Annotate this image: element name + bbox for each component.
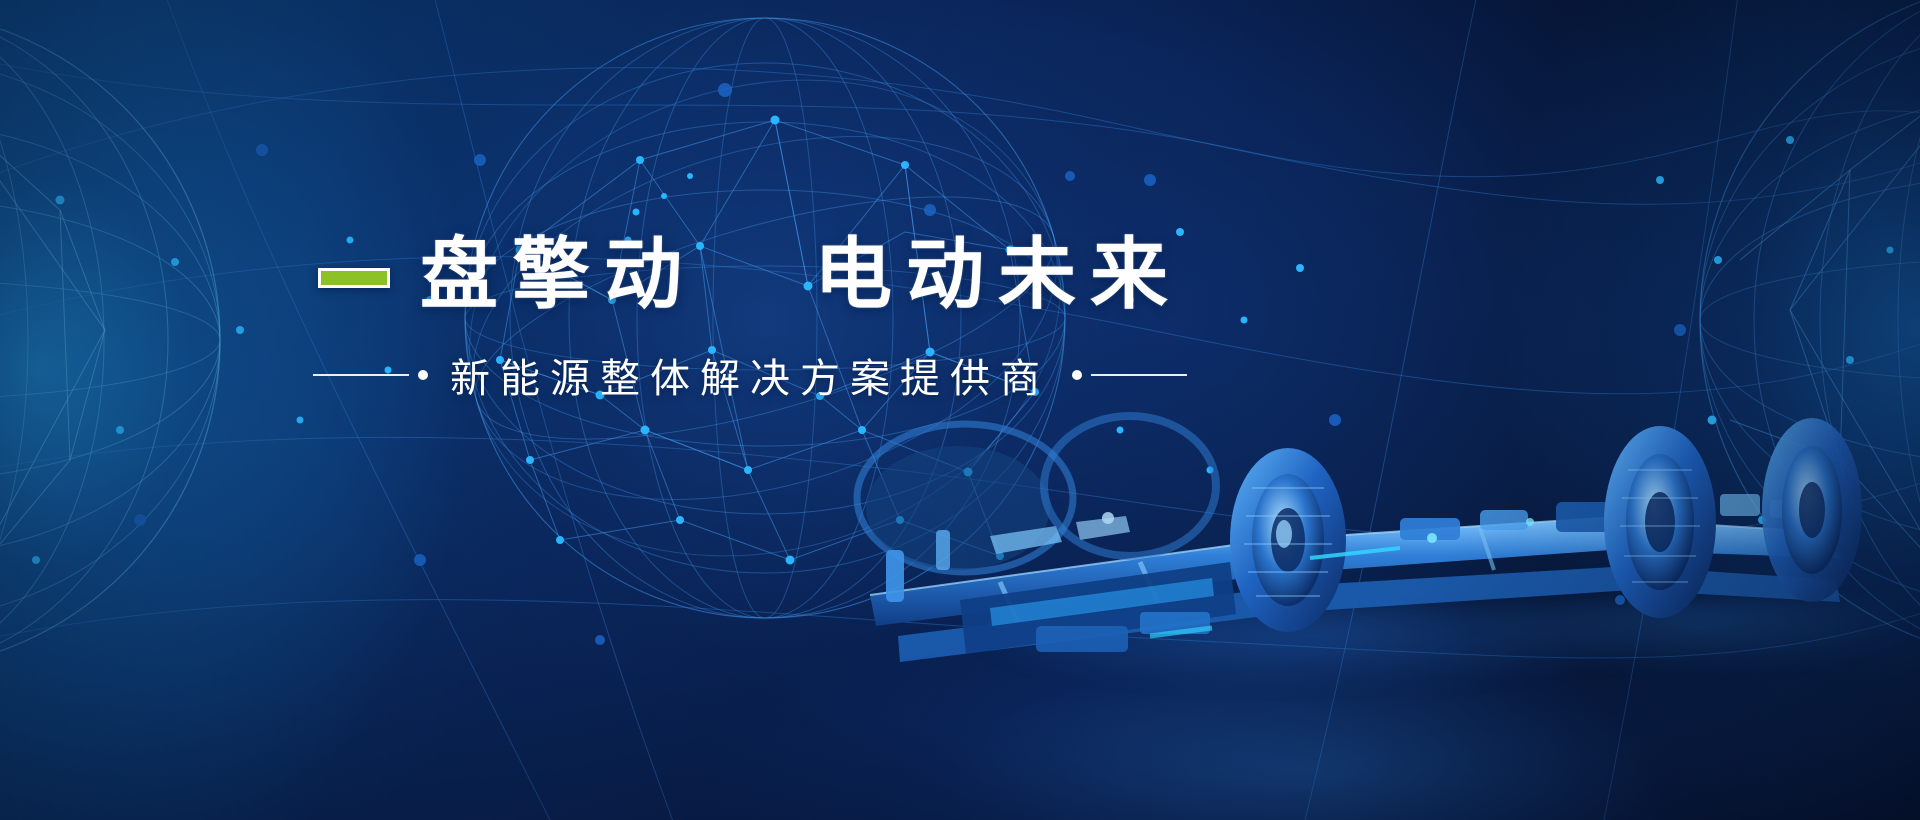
subtitle-right-decoration <box>1072 370 1187 380</box>
headline: 盘擎动 电动未来 <box>0 236 1500 314</box>
decoration-line-left <box>313 374 409 376</box>
headline-part-two: 电动未来 <box>814 236 1182 314</box>
decoration-line-right <box>1091 374 1187 376</box>
banner-text-block: 盘擎动 电动未来 新能源整体解决方案提供商 <box>0 236 1500 404</box>
globe-right-partial <box>1700 0 1920 660</box>
banner-stage: 盘擎动 电动未来 新能源整体解决方案提供商 <box>0 0 1920 820</box>
network-background-graphic <box>0 0 1920 820</box>
decoration-dot-left <box>418 370 428 380</box>
headline-part-one: 盘擎动 <box>420 236 696 314</box>
green-dash-accent <box>318 268 390 288</box>
subtitle-text: 新能源整体解决方案提供商 <box>450 346 1050 404</box>
decoration-dot-right <box>1072 370 1082 380</box>
subtitle-row: 新能源整体解决方案提供商 <box>0 346 1500 404</box>
subtitle-left-decoration <box>313 370 428 380</box>
